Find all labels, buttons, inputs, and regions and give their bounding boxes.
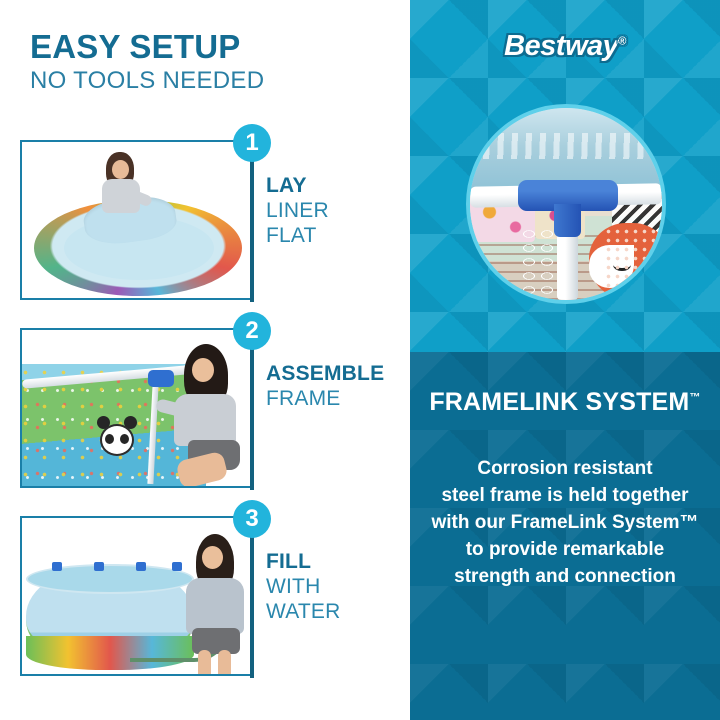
step-1-text: LAY LINER FLAT — [266, 174, 406, 248]
step-1-label-bold: LAY — [266, 174, 406, 199]
step-3-label-line3: WATER — [266, 600, 406, 625]
framelink-panel: Bestway® FRAMELINK SYSTEM™ Corrosion res… — [410, 0, 720, 720]
framelink-description: Corrosion resistant steel frame is held … — [428, 456, 702, 591]
step-number-badge-1: 1 — [233, 124, 271, 162]
vertical-frame-leg — [557, 231, 578, 300]
step-3-label-bold: FILL — [266, 550, 406, 575]
description-line: steel frame is held together — [428, 483, 702, 510]
step-2-label-line2: FRAME — [266, 387, 406, 412]
leg-left — [198, 650, 211, 676]
photo-lay-liner-flat — [22, 142, 250, 298]
framelink-heading: FRAMELINK SYSTEM™ — [410, 388, 720, 417]
step-2-photo-card — [20, 328, 252, 488]
leg — [175, 451, 228, 488]
step-3-text: FILL WITH WATER — [266, 550, 406, 624]
product-photo-circle — [466, 104, 666, 304]
face — [112, 160, 129, 179]
page-title: EASY SETUP — [30, 30, 370, 64]
panda-graphic — [94, 416, 140, 458]
infographic-page: EASY SETUP NO TOOLS NEEDED — [0, 0, 720, 720]
description-line: with our FrameLink System™ — [428, 510, 702, 537]
face — [202, 546, 223, 569]
shirt — [174, 394, 236, 446]
face — [192, 358, 214, 382]
description-line: strength and connection — [428, 564, 702, 591]
step-1-photo-card — [20, 140, 252, 300]
t-connector-stem — [554, 204, 581, 237]
step-number-badge-3: 3 — [233, 500, 271, 538]
step-connector-line — [250, 154, 254, 302]
setup-step-1: 1 LAY LINER FLAT — [0, 132, 410, 307]
bestway-logo: Bestway® — [410, 30, 720, 63]
step-connector-line — [250, 530, 254, 678]
photo-fill-with-water — [22, 518, 250, 674]
panda-eye-right — [120, 434, 129, 444]
person-figure — [100, 152, 144, 224]
framelink-heading-text: FRAMELINK SYSTEM — [429, 388, 689, 416]
person-figure — [164, 344, 250, 488]
fox-dot-pattern — [604, 227, 662, 292]
step-1-label-line3: FLAT — [266, 224, 406, 249]
heading-block: EASY SETUP NO TOOLS NEEDED — [30, 30, 370, 95]
frame-clip — [136, 562, 146, 571]
step-connector-line — [250, 342, 254, 490]
step-3-label-line2: WITH — [266, 575, 406, 600]
setup-step-3: 3 FILL WITH WATER — [0, 508, 410, 683]
trademark-mark: ™ — [689, 392, 700, 404]
page-subtitle: NO TOOLS NEEDED — [30, 68, 370, 94]
easy-setup-panel: EASY SETUP NO TOOLS NEEDED — [0, 0, 410, 720]
description-line: to provide remarkable — [428, 537, 702, 564]
leg-right — [218, 650, 231, 676]
panda-eye-left — [105, 434, 114, 444]
setup-step-2: 2 ASSEMBLE FRAME — [0, 320, 410, 495]
step-3-photo-card — [20, 516, 252, 676]
framelink-text-band: FRAMELINK SYSTEM™ Corrosion resistant st… — [410, 352, 720, 720]
step-2-label-bold: ASSEMBLE — [266, 362, 406, 387]
bestway-logo-text: Bestway — [504, 30, 618, 62]
step-1-label-line2: LINER — [266, 199, 406, 224]
photo-assemble-frame — [22, 330, 250, 486]
frame-clip — [94, 562, 104, 571]
description-line: Corrosion resistant — [428, 456, 702, 483]
step-2-text: ASSEMBLE FRAME — [266, 362, 406, 412]
step-number-badge-2: 2 — [233, 312, 271, 350]
frame-clip — [52, 562, 62, 571]
person-figure — [180, 534, 252, 676]
registered-mark: ® — [618, 35, 626, 47]
shorts — [192, 628, 240, 654]
shirt — [186, 578, 244, 634]
